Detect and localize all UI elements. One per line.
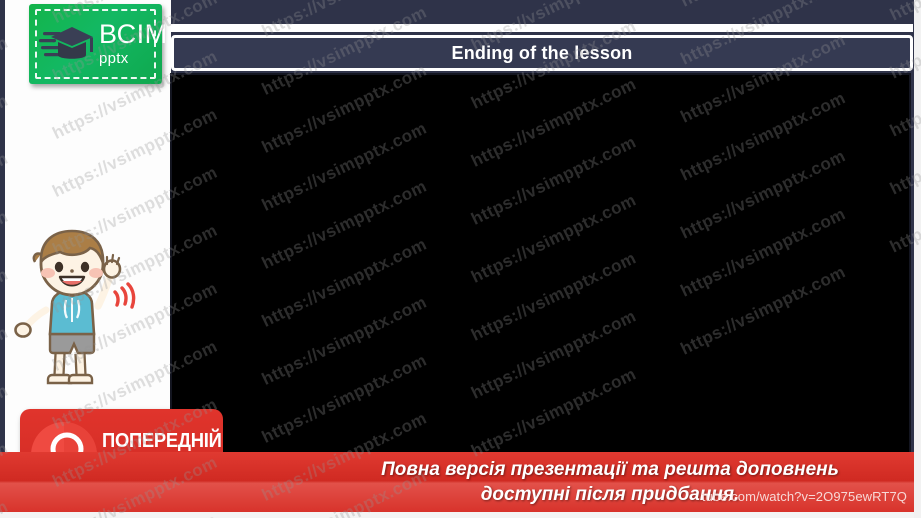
vsimpptx-logo[interactable]: ВСІМ pptx [29, 4, 162, 84]
preview-badge-line1: ПОПЕРЕДНІЙ [102, 430, 222, 452]
logo-brand: ВСІМ [99, 21, 168, 48]
logo-subtitle: pptx [99, 51, 168, 66]
purchase-banner: Повна версія презентації та решта доповн… [0, 452, 921, 512]
logo-text: ВСІМ pptx [99, 21, 168, 66]
slide-title: Ending of the lesson [451, 43, 632, 64]
youtube-url[interactable]: tube.com/watch?v=2O975ewRT7Q [702, 489, 907, 504]
graduation-cap-icon [49, 25, 95, 65]
purchase-banner-line1: Повна версія презентації та решта доповн… [300, 457, 920, 482]
right-edge-strip [914, 0, 921, 518]
slide-preview-screenshot: ВСІМ pptx Ending of the lesson [0, 0, 921, 518]
waving-boy-illustration [12, 226, 140, 396]
top-white-band [171, 24, 913, 32]
bottom-edge-strip [0, 512, 921, 518]
purchase-banner-inner: Повна версія презентації та решта доповн… [202, 452, 921, 512]
video-content-area[interactable] [172, 75, 909, 512]
slide-title-bar: Ending of the lesson [171, 35, 913, 71]
